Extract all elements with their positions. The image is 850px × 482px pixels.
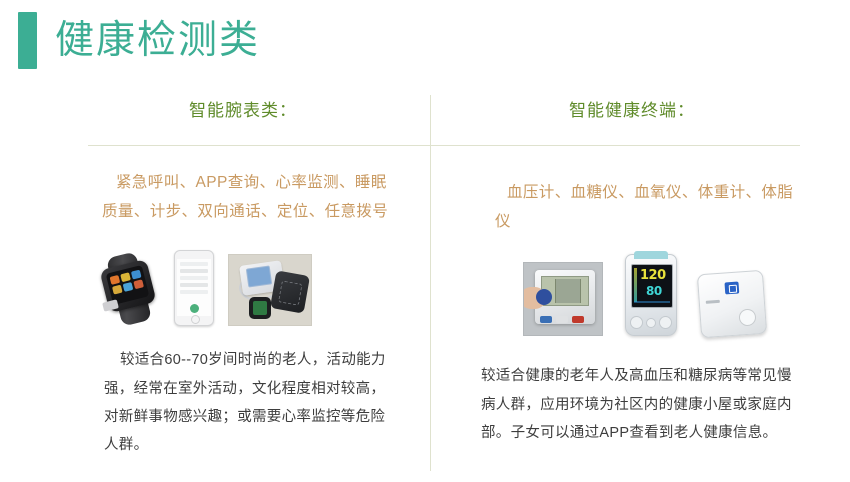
phone-app-list-row: [180, 283, 208, 287]
body-scale-image: [697, 270, 767, 338]
watch-app-icon: [112, 285, 123, 295]
watch-app-icon: [120, 273, 131, 283]
phone-home-button: [191, 315, 200, 324]
column-health-terminal: 智能健康终端： 血压计、血糖仪、血氧仪、体重计、体脂仪 120: [445, 96, 815, 447]
monitor-handle: [634, 251, 668, 259]
patient-monitor-image: 120 80: [625, 254, 677, 336]
smartphone-app-image: [174, 250, 214, 326]
monitor-knob-center: [646, 318, 656, 328]
watch-app-icon: [123, 282, 134, 292]
bp-memory-button: [556, 316, 568, 323]
phone-app-action-button: [190, 304, 199, 313]
scale-logo-icon: [724, 282, 739, 295]
feature-list-smart-watch: 紧急呼叫、APP查询、心率监测、睡眠质量、计步、双向通话、定位、任意拨号: [60, 169, 420, 226]
description-smart-watch: 较适合60--70岁间时尚的老人，活动能力强，经常在室外活动，文化程度相对较高，…: [60, 346, 420, 459]
monitor-control-knobs: [630, 316, 672, 329]
monitor-knob-right: [659, 316, 672, 329]
monitor-waveform: [634, 296, 670, 305]
slide-root: 健康检测类 智能腕表类： 紧急呼叫、APP查询、心率监测、睡眠质量、计步、双向通…: [0, 0, 850, 482]
bp-device-display: [246, 266, 272, 288]
bp-device-buttons: [540, 316, 584, 323]
vertical-divider: [430, 95, 431, 471]
column-heading-health-terminal: 智能健康终端：: [445, 96, 815, 121]
scale-brand-mark: [706, 300, 720, 304]
monitor-systolic-value: 120: [640, 268, 666, 283]
description-health-terminal: 较适合健康的老年人及高血压和糖尿病等常见慢病人群，应用环境为社区内的健康小屋或家…: [445, 362, 815, 447]
column-smart-watch: 智能腕表类： 紧急呼叫、APP查询、心率监测、睡眠质量、计步、双向通话、定位、任…: [60, 96, 420, 459]
bp-start-button: [540, 316, 552, 323]
bp-stop-button: [572, 316, 584, 323]
product-images-smart-watch: [60, 242, 420, 326]
bp-cuff: [270, 271, 310, 314]
phone-app-list-row: [180, 276, 208, 280]
smartwatch-image: [98, 252, 160, 326]
watch-app-icon: [131, 270, 142, 280]
title-accent-bar: [18, 12, 37, 69]
paired-smartwatch: [249, 297, 271, 319]
bp-monitor-photo-image: [228, 254, 312, 326]
monitor-screen: 120 80: [631, 264, 673, 308]
phone-app-list: [177, 262, 211, 294]
monitor-knob-left: [630, 316, 643, 329]
phone-screen: [177, 259, 211, 316]
column-heading-smart-watch: 智能腕表类：: [60, 96, 420, 121]
watch-app-icon: [133, 280, 144, 290]
arm-bp-monitor-image: [523, 262, 603, 336]
product-images-health-terminal: 120 80: [445, 252, 815, 336]
phone-app-list-row: [180, 262, 208, 266]
phone-app-list-row: [180, 269, 208, 273]
page-title: 健康检测类: [18, 12, 260, 69]
feature-list-health-terminal: 血压计、血糖仪、血氧仪、体重计、体脂仪: [445, 179, 815, 236]
watch-app-icon: [110, 275, 121, 285]
scale-sensor-circle: [738, 309, 756, 327]
title-label: 健康检测类: [55, 21, 260, 60]
phone-app-list-row: [180, 290, 208, 294]
